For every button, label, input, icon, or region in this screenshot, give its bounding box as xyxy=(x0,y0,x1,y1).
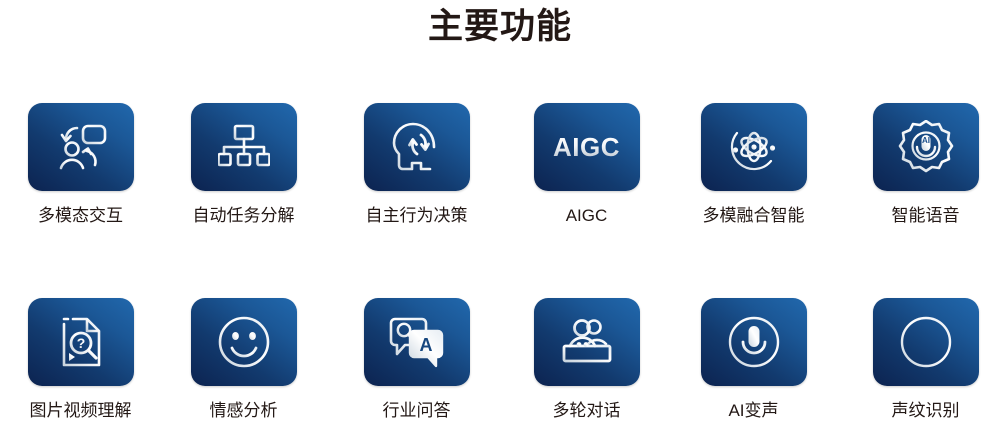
feature-item-multi-turn-dialogue[interactable]: 多轮对话 xyxy=(503,298,670,422)
gear-microphone-ai-icon: AI xyxy=(898,120,954,174)
feature-label: 多轮对话 xyxy=(503,400,670,422)
feature-item-image-video-understanding[interactable]: ? 图片视频理解 xyxy=(0,298,164,422)
feature-overview-page: 主要功能 xyxy=(0,0,1000,447)
feature-item-sentiment-analysis[interactable]: 情感分析 xyxy=(160,298,327,422)
page-title: 主要功能 xyxy=(0,6,1000,48)
document-magnifier-question-icon: ? xyxy=(57,315,105,369)
svg-text:AI: AI xyxy=(922,136,930,145)
feature-tile[interactable]: ? xyxy=(28,298,134,386)
feature-label: 行业问答 xyxy=(333,400,500,422)
svg-text:?: ? xyxy=(76,335,85,351)
feature-label: 智能语音 xyxy=(842,205,1000,227)
feature-item-industry-qa[interactable]: A 行业问答 xyxy=(333,298,500,422)
feature-item-aigc[interactable]: AIGC AIGC xyxy=(503,103,670,227)
feature-label: 多模融合智能 xyxy=(670,205,837,227)
feature-item-autonomous-decision[interactable]: 自主行为决策 xyxy=(333,103,500,227)
feature-label: 自动任务分解 xyxy=(160,205,327,227)
people-conversation-icon xyxy=(558,318,616,366)
feature-tile[interactable]: A xyxy=(364,298,470,386)
feature-tile[interactable] xyxy=(364,103,470,191)
feature-label: 自主行为决策 xyxy=(333,205,500,227)
atom-fusion-icon xyxy=(725,120,783,174)
feature-row-1: 多模态交互 xyxy=(0,103,1000,298)
voiceprint-waveform-icon xyxy=(899,315,953,369)
feature-grid: 多模态交互 xyxy=(0,103,1000,447)
feature-tile[interactable] xyxy=(191,103,297,191)
feature-item-intelligent-voice[interactable]: AI 智能语音 xyxy=(842,103,1000,227)
head-decision-cycle-icon xyxy=(390,121,444,173)
svg-text:A: A xyxy=(419,335,432,355)
aigc-text-icon: AIGC xyxy=(553,134,620,160)
feature-item-voiceprint-recognition[interactable]: 声纹识别 xyxy=(842,298,1000,422)
feature-label: 情感分析 xyxy=(160,400,327,422)
smiley-face-icon xyxy=(217,315,271,369)
feature-tile[interactable] xyxy=(701,298,807,386)
feature-tile[interactable]: AIGC xyxy=(534,103,640,191)
feature-tile[interactable] xyxy=(534,298,640,386)
feature-tile[interactable] xyxy=(28,103,134,191)
feature-label: 多模态交互 xyxy=(0,205,164,227)
multimodal-interaction-icon xyxy=(53,121,109,173)
feature-item-multimodal-interaction[interactable]: 多模态交互 xyxy=(0,103,164,227)
qa-speech-bubbles-icon: A xyxy=(389,316,445,368)
feature-row-2: ? 图片视频理解 xyxy=(0,298,1000,447)
microphone-circle-icon xyxy=(727,315,781,369)
feature-item-task-decomposition[interactable]: 自动任务分解 xyxy=(160,103,327,227)
feature-label: AI变声 xyxy=(670,400,837,422)
feature-tile[interactable] xyxy=(701,103,807,191)
task-decomposition-hierarchy-icon xyxy=(218,123,270,171)
feature-label: 图片视频理解 xyxy=(0,400,164,422)
feature-tile[interactable] xyxy=(873,298,979,386)
feature-tile[interactable] xyxy=(191,298,297,386)
feature-label: 声纹识别 xyxy=(842,400,1000,422)
feature-item-ai-voice-change[interactable]: AI变声 xyxy=(670,298,837,422)
feature-item-multimodal-fusion[interactable]: 多模融合智能 xyxy=(670,103,837,227)
feature-label: AIGC xyxy=(503,205,670,227)
feature-tile[interactable]: AI xyxy=(873,103,979,191)
